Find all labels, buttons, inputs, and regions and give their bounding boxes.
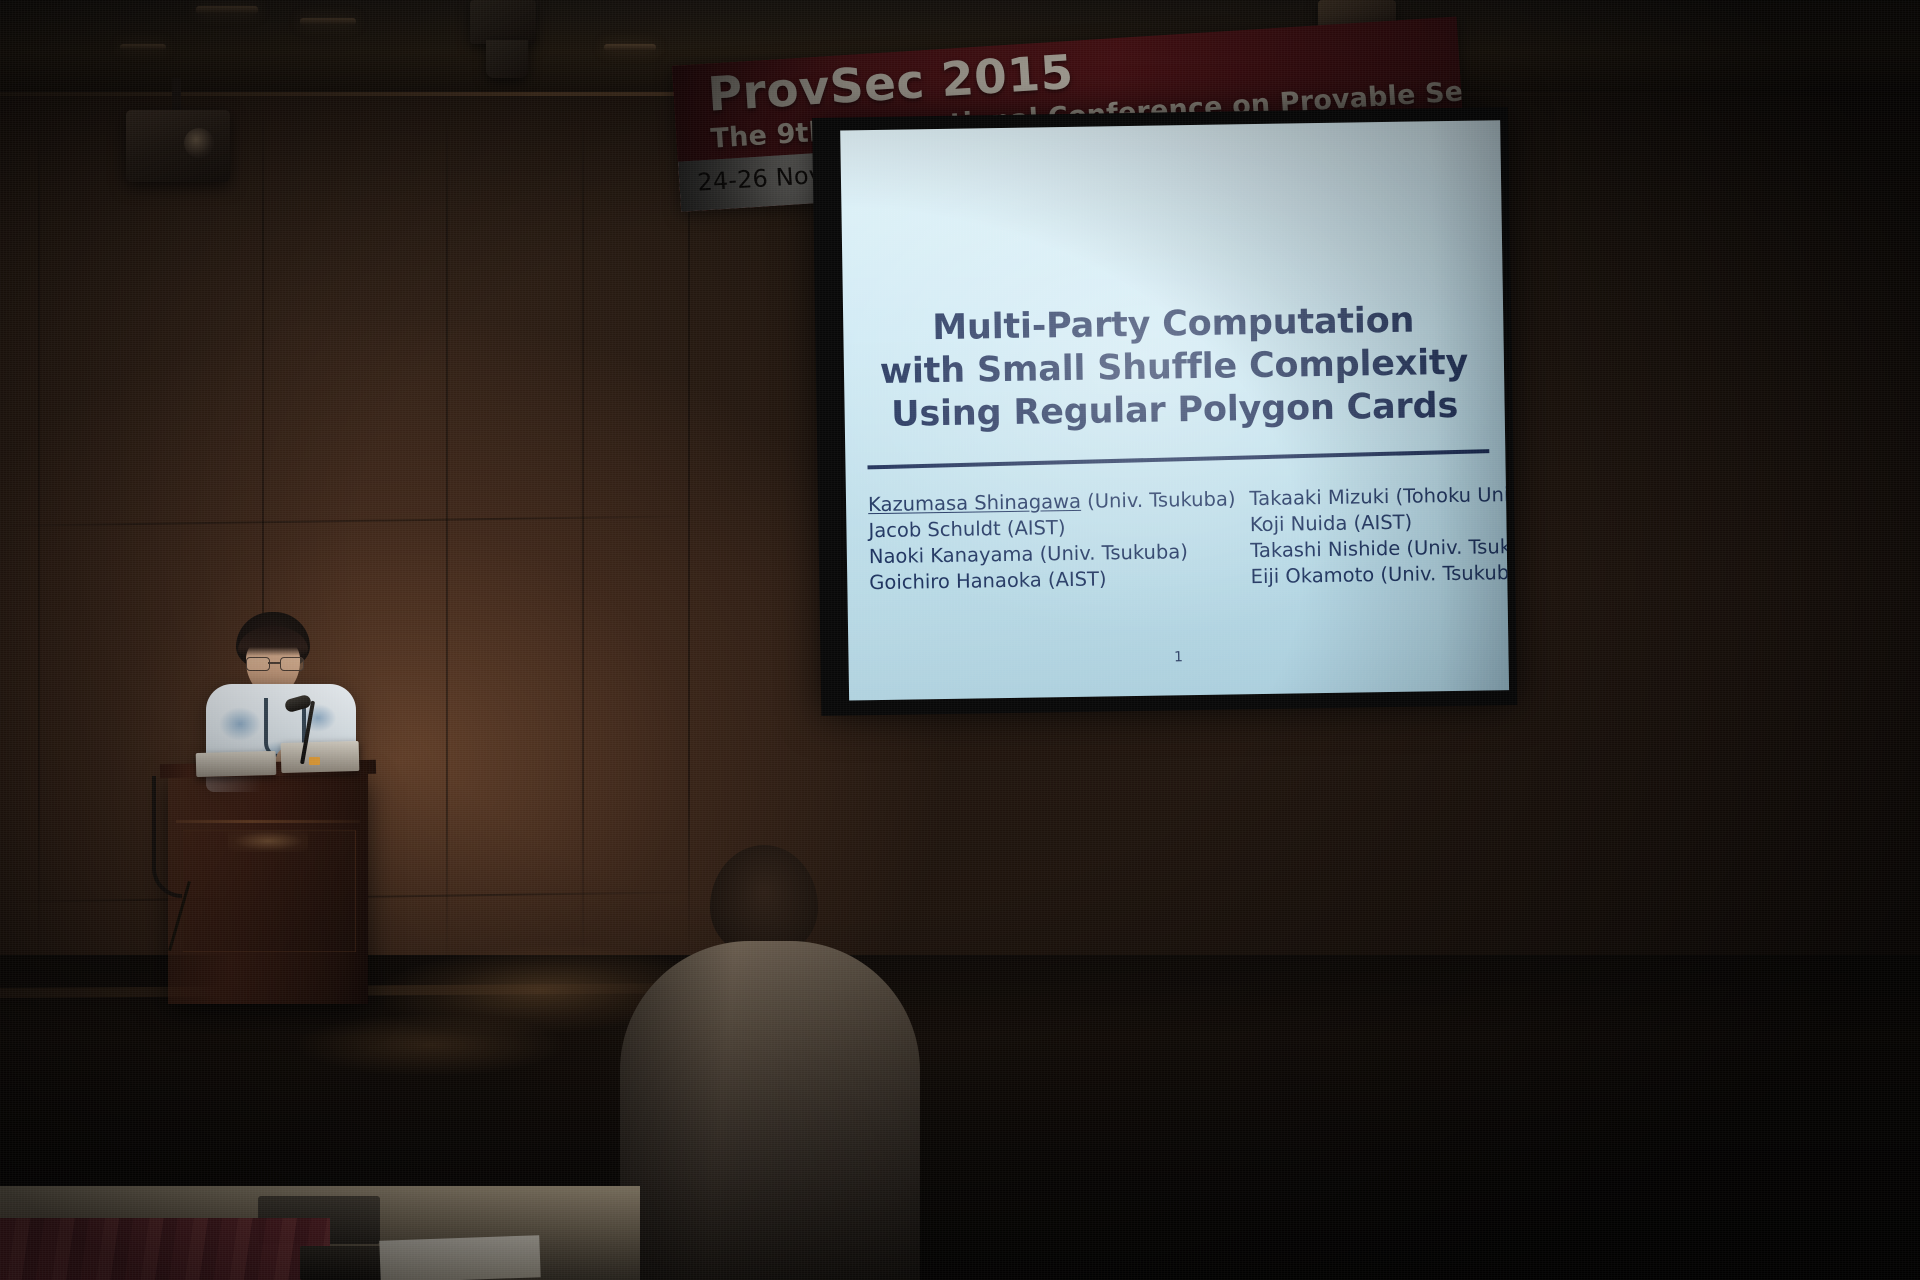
ceiling-light [300,18,356,25]
podium-device-left [196,751,277,777]
lectern-trim [176,820,360,823]
glasses-lens-left [246,657,270,671]
stage-light-fixture [470,0,536,44]
author-name: Koji Nuida [1250,512,1348,537]
wall-seam [446,104,448,974]
stage-light-pool [250,1000,610,1090]
podium-device-right [281,741,360,773]
slide-divider-rule [867,449,1489,469]
author-name-presenter: Kazumasa Shinagawa [868,490,1081,516]
wall-seam [582,108,584,968]
slide-title: Multi-Party Computation with Small Shuff… [843,298,1505,437]
device-indicator-led [309,757,320,765]
slide-page-number: 1 [848,644,1508,670]
author-entry: Goichiro Hanaoka (AIST) [869,564,1237,596]
author-column-left: Kazumasa Shinagawa (Univ. Tsukuba) Jacob… [868,486,1237,596]
author-name: Goichiro Hanaoka [869,568,1042,594]
author-name: Naoki Kanayama [869,543,1034,569]
projection-screen-frame: Multi-Party Computation with Small Shuff… [812,107,1517,716]
ceiling-light [196,6,258,14]
author-affiliation: (Univ. Tsukuba) [1087,487,1236,512]
lectern-emblem [228,830,308,852]
microphone-cable [152,776,182,898]
ceiling-light [604,44,656,51]
glasses-lens-right [280,657,304,671]
presentation-slide: Multi-Party Computation with Small Shuff… [840,120,1509,700]
slide-title-line-3: Using Regular Polygon Cards [844,384,1505,437]
glasses-icon [246,657,302,669]
foreground-paper [379,1235,540,1280]
author-affiliation: (AIST) [1048,567,1107,591]
author-name: Eiji Okamoto [1250,563,1374,588]
foreground-object [300,1246,392,1280]
screen-edge-shadow [1430,120,1509,691]
conference-photo: ProvSec 2015 The 9th International Confe… [0,0,1920,1280]
author-affiliation: (AIST) [1007,516,1066,540]
author-list: Kazumasa Shinagawa (Univ. Tsukuba) Jacob… [868,482,1496,596]
audience-shadow [620,941,920,1280]
projector [126,110,230,182]
author-name: Takashi Nishide [1250,537,1400,562]
wall-seam [688,112,690,962]
audience-member [612,845,932,1280]
author-name: Takaaki Mizuki [1249,485,1389,510]
projector-mount [172,78,181,112]
wall-seam [38,100,40,980]
lectern [168,772,368,1004]
author-affiliation: (Univ. Tsukuba) [1039,540,1188,565]
author-name: Jacob Schuldt [868,517,1001,542]
projector-lens [184,128,214,158]
glasses-bridge [268,662,280,664]
ceiling-light [120,44,166,50]
author-affiliation: (AIST) [1353,511,1412,535]
stage-light-fixture [486,40,528,78]
projection-screen: Multi-Party Computation with Small Shuff… [840,120,1509,700]
table-cloth [0,1218,330,1280]
